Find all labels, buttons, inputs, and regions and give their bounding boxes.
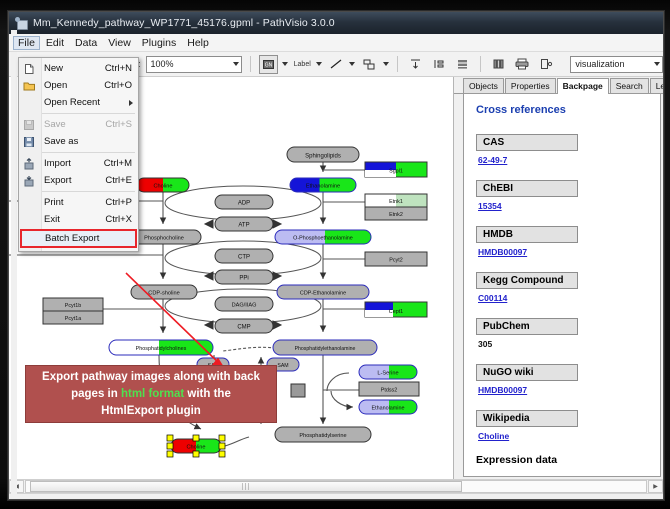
menu-edit[interactable]: Edit [41,36,69,50]
annotation-line-2a: pages in [71,388,121,400]
xref-header-kegg: Kegg Compound [476,272,578,289]
xref-link-hmdb[interactable]: HMDB00097 [478,247,527,257]
application-window: Mm_Kennedy_pathway_WP1771_45176.gpml - P… [8,11,664,500]
menu-item-export[interactable]: Export Ctrl+E [19,172,138,189]
svg-text:Choline: Choline [187,445,206,451]
xref-link-nugo[interactable]: HMDB00097 [478,385,527,395]
svg-text:CMP: CMP [237,325,250,331]
scrollbar-grip-icon: ||| [242,483,250,490]
svg-text:ADP: ADP [238,201,250,207]
svg-text:Sphingolipids: Sphingolipids [305,154,341,160]
xref-link-wikipedia[interactable]: Choline [478,431,509,441]
svg-text:Phosphatidylcholines: Phosphatidylcholines [136,346,187,352]
menu-file[interactable]: File [13,36,40,50]
align-top-icon[interactable] [406,55,425,74]
export-icon [23,175,36,187]
sidebar-toggle-icon[interactable] [537,55,556,74]
svg-text:SAM: SAM [277,363,288,369]
node-dag: DAG/IIAG [215,297,273,311]
gene-sgpl1: Sgpl1 [365,162,427,177]
xref-header-wikipedia: Wikipedia [476,410,578,427]
svg-text:Etnk2: Etnk2 [389,212,403,218]
gene-ptdss2: Ptdss2 [359,382,419,396]
datanode-icon[interactable]: GN [259,55,278,74]
xref-value-wikipedia: Choline [478,431,660,441]
menu-item-print[interactable]: Print Ctrl+P [19,194,138,211]
menu-item-print-label: Print [44,197,64,208]
cross-references-title: Cross references [476,104,660,116]
scroll-right-arrow-icon[interactable]: ▶ [648,480,663,493]
menu-help[interactable]: Help [182,36,214,50]
import-icon [23,158,36,170]
node-cdp-ethanolamine: CDP-Ethanolamine [277,285,369,299]
xref-header-pubchem: PubChem [476,318,578,335]
menu-view[interactable]: View [103,36,136,50]
folder-icon [23,80,36,92]
gene-pcyt2: Pcyt2 [365,252,427,266]
menu-item-open-accel: Ctrl+O [104,80,132,91]
columns-icon[interactable] [489,55,508,74]
toolbar-separator-2 [397,56,398,72]
canvas-horizontal-scrollbar[interactable]: ◀ ||| ▶ [9,479,663,493]
menu-item-print-accel: Ctrl+P [105,197,132,208]
tab-search[interactable]: Search [610,78,649,93]
annotation-line-2c: with the [184,388,231,400]
screenshot-root: Mm_Kennedy_pathway_WP1771_45176.gpml - P… [0,0,670,509]
svg-text:Ptdss2: Ptdss2 [381,388,397,394]
menu-item-save-label: Save [44,119,66,130]
svg-text:CTP: CTP [238,255,250,261]
side-panel-scrollbar[interactable] [11,30,17,497]
svg-text:Pcyt1b: Pcyt1b [65,303,81,309]
xref-value-pubchem: 305 [478,339,660,349]
node-atp: ATP [215,217,273,231]
xref-header-nugo: NuGO wiki [476,364,578,381]
svg-text:DAG/IIAG: DAG/IIAG [232,303,257,309]
node-l-serine: L-Serine [359,365,417,379]
menu-item-new-label: New [44,63,63,74]
svg-text:Phosphocholine: Phosphocholine [144,236,184,242]
annotation-line-3: HtmlExport plugin [101,405,201,417]
menu-bar: File Edit Data View Plugins Help [9,34,663,52]
toolbar-separator-3 [480,56,481,72]
xref-value-hmdb: HMDB00097 [478,247,660,257]
svg-text:Sgpl1: Sgpl1 [389,169,403,175]
svg-text:Cept1: Cept1 [389,309,403,315]
node-ethanolamine-2: Ethanolamine [359,400,417,414]
xref-value-cas: 62-49-7 [478,155,660,165]
tab-backpage[interactable]: Backpage [557,78,609,94]
node-o-phosphoethanolamine: O-Phosphoethanolamine [275,230,371,244]
node-adp: ADP [215,195,273,209]
xref-header-cas: CAS [476,134,578,151]
node-cmp: CMP [215,319,273,333]
side-panel: Objects Properties Backpage Search Legen… [454,77,663,479]
menu-item-exit[interactable]: Exit Ctrl+X [19,211,138,228]
node-ppi: PPi [215,270,273,284]
menu-item-open-recent-label: Open Recent [44,97,100,108]
menu-item-exit-accel: Ctrl+X [105,214,132,225]
menu-data[interactable]: Data [70,36,102,50]
annotation-callout: Export pathway images along with back pa… [25,365,277,423]
node-phosphatidylserine: Phosphatidylserine [275,427,371,442]
group-icon[interactable] [430,55,449,74]
title-bar: Mm_Kennedy_pathway_WP1771_45176.gpml - P… [9,12,663,34]
svg-text:PPi: PPi [239,276,248,282]
svg-text:Ethanolamine: Ethanolamine [306,184,340,190]
zoom-value: 100% [151,59,174,69]
node-sphingolipids: Sphingolipids [287,147,359,162]
svg-text:Phosphatidylserine: Phosphatidylserine [299,433,346,439]
menu-item-open[interactable]: Open Ctrl+O [19,77,138,94]
shape-icon[interactable] [360,55,379,74]
menu-plugins[interactable]: Plugins [137,36,181,50]
scrollbar-trough[interactable]: ||| [25,480,647,493]
gene-etnk2: Etnk2 [365,207,427,220]
stack-icon[interactable] [454,55,473,74]
app-icon [15,17,28,30]
menu-item-open-recent[interactable]: Open Recent [19,94,138,111]
xref-link-kegg[interactable]: C00114 [478,293,507,303]
file-menu-popup[interactable]: New Ctrl+N Open Ctrl+O Open Recent Save [18,57,139,252]
line-icon[interactable] [327,55,346,74]
shape-dropdown-icon[interactable] [383,62,389,66]
menu-item-export-accel: Ctrl+E [105,175,132,186]
xref-link-chebi[interactable]: 15354 [478,201,502,211]
datanode-dropdown-icon[interactable] [282,62,288,66]
label-icon[interactable]: Label [293,55,312,74]
menu-item-save: Save Ctrl+S [19,116,138,133]
menu-item-save-accel: Ctrl+S [105,119,132,130]
annotation-line-1: Export pathway images along with back [42,371,260,383]
toolbar-separator [250,56,251,72]
gene-pcyt1a: Pcyt1a [43,311,103,324]
tab-objects[interactable]: Objects [463,78,504,93]
xref-link-cas[interactable]: 62-49-7 [478,155,507,165]
annotation-html-format: html format [121,388,184,400]
menu-item-import-label: Import [44,158,71,169]
node-phosphatidylethanolamine: Phosphatidylethanolamine [273,340,377,355]
menu-item-import-accel: Ctrl+M [104,158,132,169]
node-ethanolamine-1: Ethanolamine [290,178,356,192]
window-title: Mm_Kennedy_pathway_WP1771_45176.gpml - P… [33,17,335,29]
svg-text:Pcyt1a: Pcyt1a [65,316,81,322]
svg-text:Etnk1: Etnk1 [389,199,403,205]
svg-text:ATP: ATP [238,223,249,229]
svg-text:Phosphatidylethanolamine: Phosphatidylethanolamine [295,346,356,352]
label-dropdown-icon[interactable] [316,62,322,66]
submenu-arrow-icon [129,100,133,106]
node-choline: Choline [137,178,189,192]
status-bar-text: | Gene database: ...m_Derby_20120602.bri… [15,497,520,501]
tab-legend[interactable]: Legend [650,78,664,93]
chevron-down-icon-2 [654,62,660,66]
label-button-text: Label [294,61,311,68]
backpage-content: Cross references CAS 62-49-7 ChEBI 15354… [463,94,661,477]
scrollbar-thumb[interactable]: ||| [30,481,462,492]
menu-item-new-accel: Ctrl+N [105,63,132,74]
menu-item-open-label: Open [44,80,67,91]
line-dropdown-icon[interactable] [349,62,355,66]
visualization-combobox[interactable]: visualization [570,56,663,73]
svg-text:CDP-Ethanolamine: CDP-Ethanolamine [300,291,346,297]
svg-text:CDP-sholine: CDP-sholine [148,291,179,297]
gene-cept1: Cept1 [365,302,427,317]
node-choline-selected: Choline [167,435,225,457]
save-icon [23,119,36,131]
svg-text:Choline: Choline [154,184,173,190]
chevron-down-icon [233,62,239,66]
xref-header-chebi: ChEBI [476,180,578,197]
visualization-value: visualization [575,59,624,69]
expression-data-title: Expression data [476,454,660,466]
save-as-icon [23,136,36,148]
tab-properties[interactable]: Properties [505,78,556,93]
menu-item-save-as-label: Save as [44,136,78,147]
svg-text:Pcyt2: Pcyt2 [389,258,402,264]
svg-text:GN: GN [265,62,273,68]
menu-item-export-label: Export [44,175,71,186]
menu-item-new[interactable]: New Ctrl+N [19,60,138,77]
xref-value-kegg: C00114 [478,293,660,303]
xref-value-chebi: 15354 [478,201,660,211]
menu-item-exit-label: Exit [44,214,60,225]
svg-text:Ethanolamine: Ethanolamine [372,406,405,412]
xref-value-nugo: HMDB00097 [478,385,660,395]
menu-item-save-as[interactable]: Save as [19,133,138,150]
menu-item-batch-export[interactable]: Batch Export [20,229,137,248]
svg-text:O-Phosphoethanolamine: O-Phosphoethanolamine [293,236,353,242]
side-panel-tabs: Objects Properties Backpage Search Legen… [454,77,663,94]
gene-pcyt1b: Pcyt1b [43,298,103,311]
node-ctp: CTP [215,249,273,263]
gene-etnk1: Etnk1 [365,194,427,207]
status-bar: | Gene database: ...m_Derby_20120602.bri… [9,493,663,500]
svg-text:L-Serine: L-Serine [377,371,398,377]
menu-item-import[interactable]: Import Ctrl+M [19,155,138,172]
print-icon[interactable] [513,55,532,74]
xref-header-hmdb: HMDB [476,226,578,243]
menu-item-batch-export-label: Batch Export [45,233,99,244]
new-file-icon [23,63,36,75]
zoom-combobox[interactable]: 100% [146,56,242,73]
